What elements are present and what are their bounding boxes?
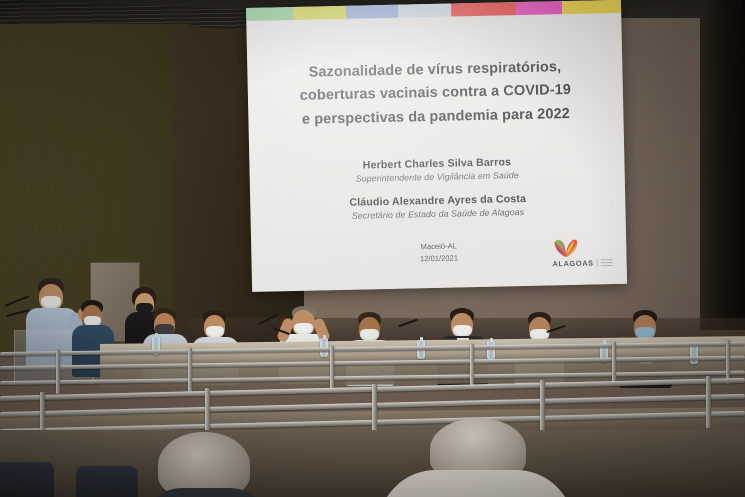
railing-post	[56, 350, 60, 394]
water-bottle	[690, 345, 698, 364]
railing-front-post	[372, 384, 377, 436]
alagoas-swoosh-icon	[552, 235, 580, 260]
slide-stripe-1	[246, 7, 293, 21]
slide-speakers: Herbert Charles Silva Barros Superintend…	[263, 155, 611, 224]
slide-stripe-4	[398, 4, 451, 18]
logo-side-text	[597, 259, 613, 266]
slide-stripe-7	[562, 0, 621, 14]
audience-chair	[0, 462, 54, 497]
water-bottle	[487, 341, 495, 360]
slide-stripe-3	[346, 5, 399, 19]
alagoas-wordmark: ALAGOAS	[552, 258, 593, 268]
railing-post	[470, 344, 474, 388]
alagoas-logo: ALAGOAS	[552, 234, 613, 268]
projection-screen: Sazonalidade de vírus respiratórios, cob…	[246, 0, 627, 292]
railing-front-post	[540, 380, 545, 432]
audience-chair	[76, 466, 138, 497]
conference-photo: Sazonalidade de vírus respiratórios, cob…	[0, 0, 745, 497]
slide: Sazonalidade de vírus respiratórios, cob…	[246, 0, 627, 292]
slide-title: Sazonalidade de vírus respiratórios, cob…	[261, 55, 609, 133]
railing-post	[612, 342, 616, 386]
wall-far-right	[700, 0, 745, 330]
railing-post	[330, 346, 334, 390]
railing-post	[188, 348, 192, 392]
slide-stripe-6	[515, 1, 562, 15]
railing-front-post	[706, 376, 711, 428]
slide-stripe-2	[293, 6, 346, 20]
